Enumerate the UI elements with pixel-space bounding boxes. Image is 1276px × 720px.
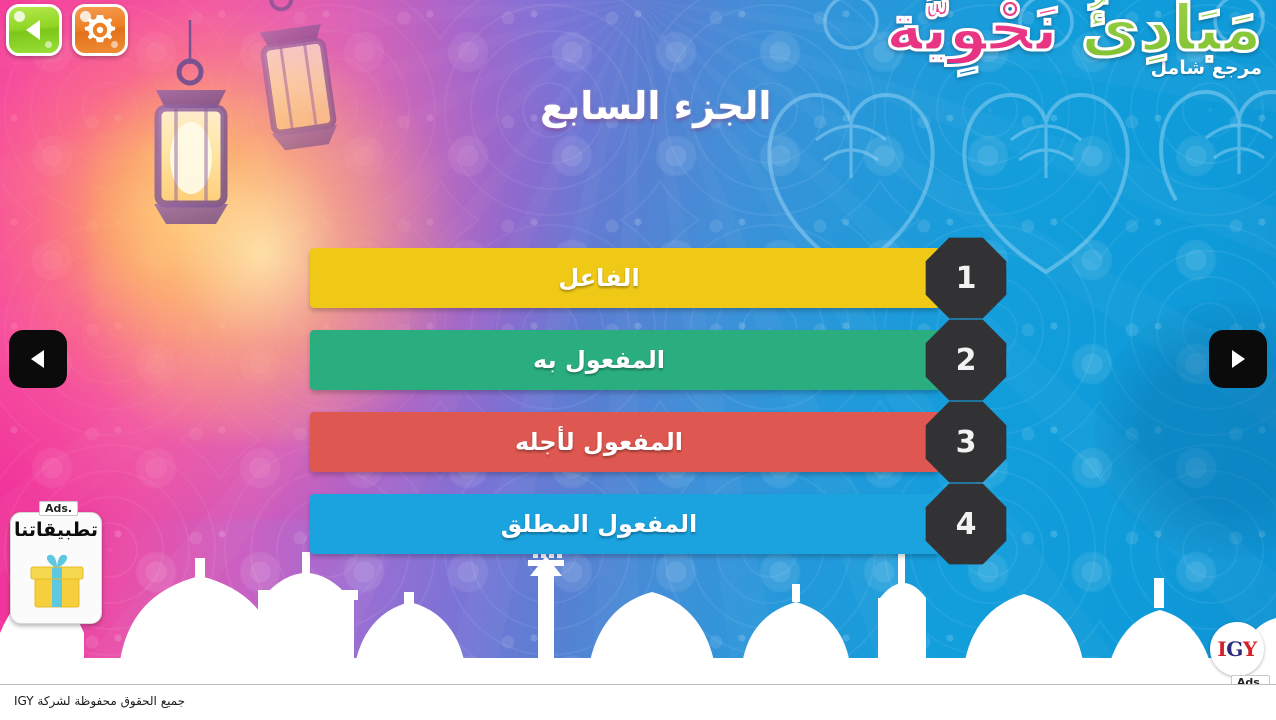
our-apps-label: تطبيقاتنا: [11, 519, 101, 541]
part-title: الجزء السابع: [540, 84, 771, 128]
igy-letter-y: Y: [1243, 637, 1257, 661]
footer-bar: جميع الحقوق محفوظة لشركة IGY: [0, 684, 1276, 720]
app-root: مَبَادِئُ نَحْوِيَّة مرجع شامل الجزء الس…: [0, 0, 1276, 720]
nav-next-button[interactable]: [1209, 330, 1267, 388]
igy-letter-g: G: [1226, 637, 1243, 661]
app-title-part2: نَحْوِيَّة: [885, 0, 1058, 66]
ads-label: Ads.: [39, 501, 78, 516]
lesson-label: الفاعل: [558, 264, 639, 292]
menu-row: المفعول به2: [310, 330, 990, 390]
lesson-button-4[interactable]: المفعول المطلق: [310, 494, 940, 554]
lesson-label: المفعول به: [533, 346, 665, 374]
nav-previous-button[interactable]: [9, 330, 67, 388]
back-triangle-icon: [21, 17, 47, 43]
lesson-number: 1: [956, 261, 977, 296]
lesson-menu: الفاعل1المفعول به2المفعول لأجله3المفعول …: [310, 248, 990, 576]
gift-box-icon: [25, 551, 89, 611]
settings-button[interactable]: [72, 4, 128, 56]
lesson-number: 3: [956, 425, 977, 460]
menu-row: الفاعل1: [310, 248, 990, 308]
copyright-text: جميع الحقوق محفوظة لشركة IGY: [14, 694, 185, 708]
lesson-label: المفعول المطلق: [501, 510, 698, 538]
igy-logo[interactable]: IGY Ads.: [1210, 622, 1264, 676]
lesson-button-3[interactable]: المفعول لأجله: [310, 412, 940, 472]
lesson-label: المفعول لأجله: [515, 428, 683, 456]
back-button[interactable]: [6, 4, 62, 56]
arrow-right-icon: [1225, 346, 1251, 372]
igy-logo-circle: IGY: [1210, 622, 1264, 676]
lesson-button-1[interactable]: الفاعل: [310, 248, 940, 308]
app-title-part1: مَبَادِئُ: [1081, 0, 1262, 66]
our-apps-ad-widget[interactable]: Ads. تطبيقاتنا: [10, 512, 102, 624]
gear-icon: [83, 13, 117, 47]
menu-row: المفعول لأجله3: [310, 412, 990, 472]
lesson-button-2[interactable]: المفعول به: [310, 330, 940, 390]
top-controls: [6, 4, 128, 56]
app-title-block: مَبَادِئُ نَحْوِيَّة مرجع شامل: [885, 0, 1262, 79]
menu-row: المفعول المطلق4: [310, 494, 990, 554]
app-title: مَبَادِئُ نَحْوِيَّة: [885, 0, 1262, 63]
igy-letter-i: I: [1217, 637, 1226, 661]
arrow-left-icon: [25, 346, 51, 372]
lesson-number: 2: [956, 343, 977, 378]
lesson-number: 4: [956, 507, 977, 542]
